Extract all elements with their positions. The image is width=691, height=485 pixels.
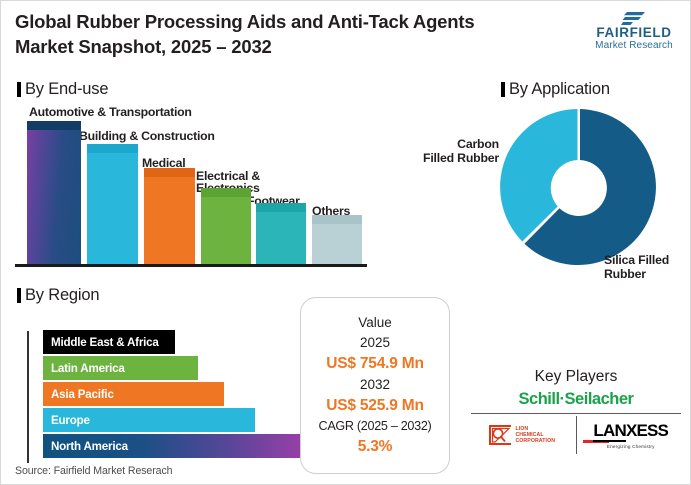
fairfield-logo-subtitle: Market Research [588, 40, 680, 51]
lanxess-logo: LANXESS Energizing Chemistry [577, 422, 686, 449]
end-use-bar-others[interactable] [312, 215, 362, 266]
region-bar-latin-america[interactable]: Latin America [43, 356, 198, 380]
lanxess-logo-lan: LAN [593, 421, 626, 442]
region-bar-label: Asia Pacific [51, 388, 114, 401]
bar-body [87, 153, 138, 266]
bar-cap [256, 203, 306, 212]
end-use-bar-medical[interactable] [144, 168, 195, 266]
infographic-page: Global Rubber Processing Aids and Anti-T… [0, 0, 691, 485]
source-note: Source: Fairfield Market Reserach [15, 465, 172, 477]
lanxess-logo-tagline: Energizing Chemistry [577, 444, 686, 449]
region-bar-asia-pacific[interactable]: Asia Pacific [43, 382, 224, 406]
key-players-title: Key Players [467, 367, 685, 387]
donut-label-carbon-line1: Carbon [421, 137, 499, 151]
lion-logo-line3: CORPORATION [515, 438, 555, 444]
page-title: Global Rubber Processing Aids and Anti-T… [15, 9, 615, 59]
value-card-year-base: 2025 [360, 333, 390, 353]
bar-cap [312, 215, 362, 224]
end-use-bar-building[interactable] [87, 144, 138, 266]
value-card-cagr-value: 5.3% [358, 436, 393, 458]
value-card-title: Value [358, 313, 392, 333]
lion-chemical-logo: LION CHEMICAL CORPORATION [467, 423, 576, 447]
bar-body [201, 197, 251, 266]
value-card-value-forecast: US$ 525.9 Mn [326, 395, 424, 417]
bar-cap [87, 144, 138, 153]
end-use-bar-chart: Automotive & Transportation Building & C… [15, 101, 375, 266]
region-bar-north-america[interactable]: North America [43, 434, 305, 458]
title-line-2: Market Snapshot, 2025 – 2032 [15, 34, 615, 59]
section-heading-end-use: By End-use [17, 80, 108, 99]
section-heading-end-use-label: By End-use [25, 80, 108, 99]
region-bar-label: Latin America [51, 362, 125, 375]
bar-cap [144, 168, 195, 177]
donut-label-silica-line1: Silica Filled [604, 253, 669, 267]
heading-tick-icon [17, 82, 21, 97]
value-card-cagr-label: CAGR (2025 – 2032) [319, 417, 432, 436]
application-donut-chart: Carbon Filled Rubber Silica Filled Rubbe… [421, 75, 686, 290]
donut-label-silica: Silica Filled Rubber [604, 253, 669, 281]
bar-cap [27, 121, 81, 130]
end-use-baseline-axis [15, 264, 367, 267]
value-summary-card: Value 2025 US$ 754.9 Mn 2032 US$ 525.9 M… [300, 297, 450, 474]
end-use-label-building: Building & Construction [79, 130, 215, 143]
donut-graphic[interactable] [496, 103, 664, 271]
end-use-bar-electrical-electronics[interactable] [201, 188, 251, 266]
value-card-year-forecast: 2032 [360, 375, 390, 395]
end-use-bar-automotive[interactable] [27, 121, 81, 266]
bar-body [312, 224, 362, 266]
end-use-label-automotive: Automotive & Transportation [29, 106, 192, 119]
schill-seilacher-logo: Schill·Seilacher [467, 389, 685, 410]
bar-body [27, 130, 81, 266]
fairfield-logo: FAIRFIELD Market Research [588, 9, 680, 51]
bar-cap [201, 188, 251, 197]
lion-mark-icon [487, 423, 513, 447]
value-card-value-base: US$ 754.9 Mn [326, 353, 424, 375]
fairfield-f-mark-icon [588, 9, 680, 26]
region-bar-label: Middle East & Africa [51, 336, 159, 349]
bar-body [256, 212, 306, 266]
donut-label-silica-line2: Rubber [604, 267, 669, 281]
region-bar-europe[interactable]: Europe [43, 408, 255, 432]
key-players-panel: Key Players Schill·Seilacher LION CHEMIC… [467, 367, 685, 456]
bar-body [144, 177, 195, 266]
region-bar-middle-east-africa[interactable]: Middle East & Africa [43, 330, 175, 354]
key-players-logo-row: LION CHEMICAL CORPORATION LANXESS Energi… [467, 414, 685, 456]
lanxess-logo-xess: XESS [626, 421, 668, 440]
region-bar-chart: Middle East & Africa Latin America Asia … [15, 284, 315, 469]
donut-label-carbon: Carbon Filled Rubber [421, 137, 499, 165]
donut-label-carbon-line2: Filled Rubber [421, 151, 499, 165]
region-bar-label: Europe [51, 414, 90, 427]
region-bar-label: North America [51, 440, 128, 453]
end-use-bar-footwear[interactable] [256, 203, 306, 266]
fairfield-logo-name: FAIRFIELD [588, 26, 680, 40]
title-line-1: Global Rubber Processing Aids and Anti-T… [15, 9, 615, 34]
